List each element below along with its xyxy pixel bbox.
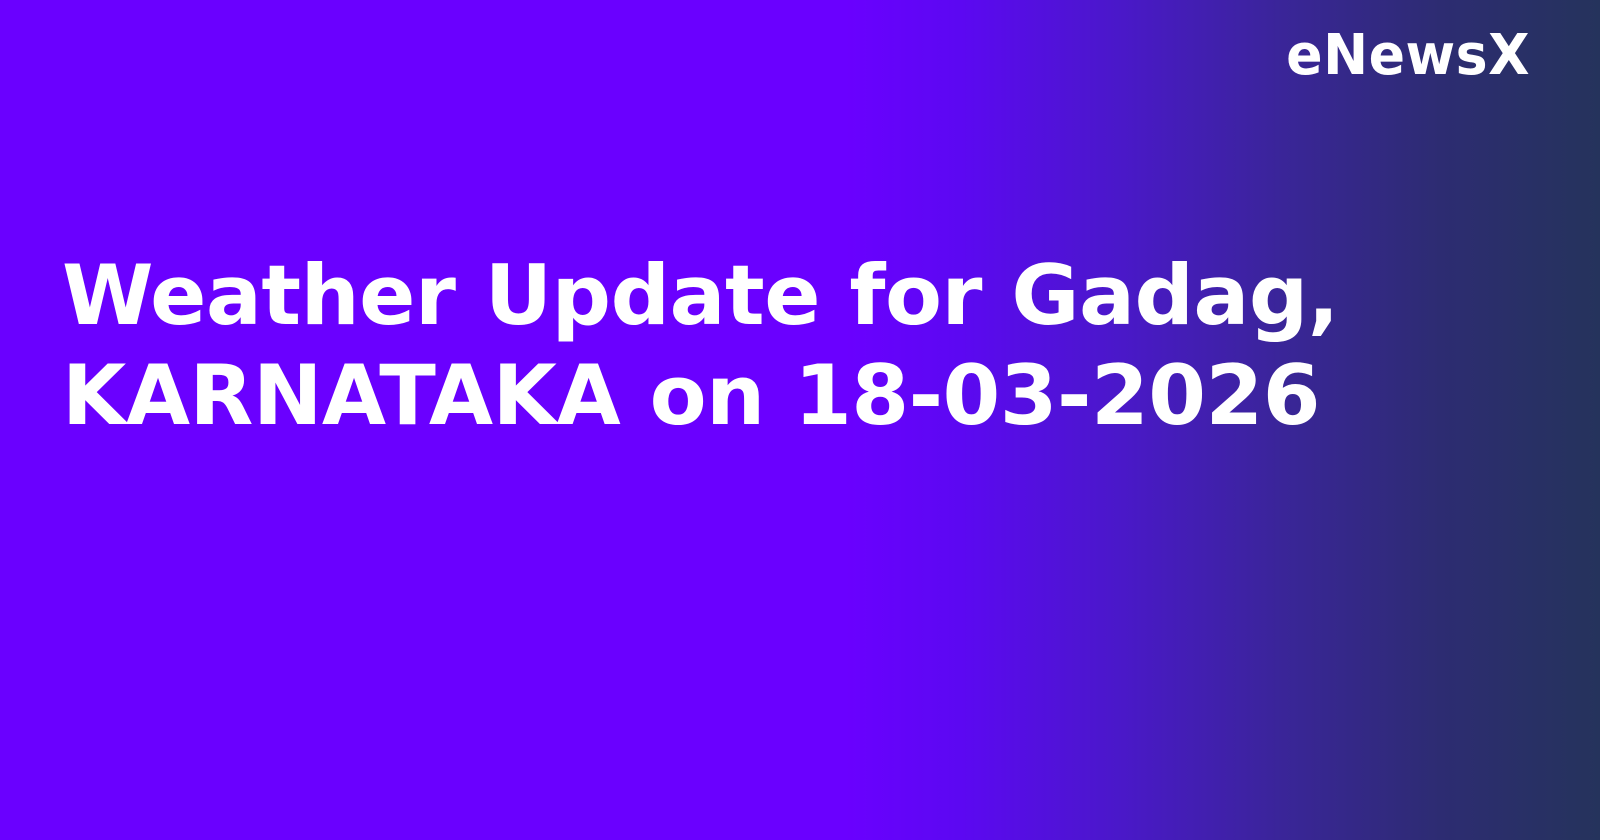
news-banner: eNewsX Weather Update for Gadag, KARNATA… [0, 0, 1600, 840]
headline-container: Weather Update for Gadag, KARNATAKA on 1… [62, 246, 1392, 447]
brand-logo-container[interactable]: eNewsX [1276, 28, 1530, 84]
page-title: Weather Update for Gadag, KARNATAKA on 1… [62, 246, 1392, 447]
enewsx-logo[interactable]: eNewsX [1286, 28, 1530, 84]
